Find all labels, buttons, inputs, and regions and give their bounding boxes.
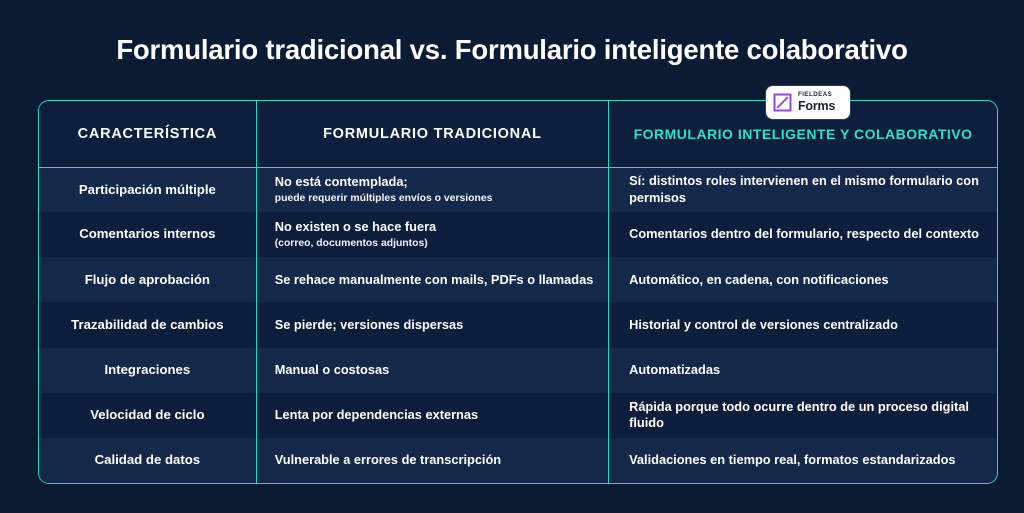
cell-main-text: Validaciones en tiempo real, formatos es…	[629, 452, 983, 469]
row-feature-label: Velocidad de ciclo	[39, 393, 256, 438]
table-row: Comentarios internos No existen o se hac…	[39, 212, 997, 257]
table-row: Flujo de aprobación Se rehace manualment…	[39, 257, 997, 302]
row-smart-cell: Rápida porque todo ocurre dentro de un p…	[609, 393, 997, 438]
cell-main-text: Sí: distintos roles intervienen en el mi…	[629, 173, 983, 206]
row-feature-label: Calidad de datos	[39, 438, 256, 483]
logo-top-word: FIELDEAS	[798, 92, 835, 98]
row-smart-cell: Comentarios dentro del formulario, respe…	[609, 212, 997, 257]
header-row: CARACTERÍSTICA FORMULARIO TRADICIONAL FO…	[39, 101, 997, 167]
cell-main-text: Manual o costosas	[275, 362, 594, 379]
cell-main-text: No está contemplada;	[275, 174, 594, 191]
comparison-table: CARACTERÍSTICA FORMULARIO TRADICIONAL FO…	[39, 101, 997, 483]
row-traditional-cell: Se rehace manualmente con mails, PDFs o …	[256, 257, 608, 302]
table-body: Participación múltiple No está contempla…	[39, 167, 997, 483]
cell-main-text: Automático, en cadena, con notificacione…	[629, 272, 983, 289]
row-smart-cell: Validaciones en tiempo real, formatos es…	[609, 438, 997, 483]
square-diagonal-icon	[773, 93, 792, 112]
table-row: Calidad de datos Vulnerable a errores de…	[39, 438, 997, 483]
cell-main-text: Se pierde; versiones dispersas	[275, 317, 594, 334]
cell-sub-text: puede requerir múltiples envíos o versio…	[275, 192, 594, 206]
table-row: Integraciones Manual o costosas Automati…	[39, 348, 997, 393]
row-feature-label: Comentarios internos	[39, 212, 256, 257]
page-title: Formulario tradicional vs. Formulario in…	[0, 34, 1024, 66]
row-smart-cell: Sí: distintos roles intervienen en el mi…	[609, 167, 997, 212]
row-feature-label: Flujo de aprobación	[39, 257, 256, 302]
row-feature-label: Participación múltiple	[39, 167, 256, 212]
cell-main-text: Se rehace manualmente con mails, PDFs o …	[275, 272, 594, 289]
row-traditional-cell: No existen o se hace fuera (correo, docu…	[256, 212, 608, 257]
table-row: Participación múltiple No está contempla…	[39, 167, 997, 212]
row-traditional-cell: Se pierde; versiones dispersas	[256, 302, 608, 347]
cell-main-text: Historial y control de versiones central…	[629, 317, 983, 334]
cell-main-text: No existen o se hace fuera	[275, 219, 594, 236]
cell-sub-text: (correo, documentos adjuntos)	[275, 237, 594, 251]
cell-main-text: Comentarios dentro del formulario, respe…	[629, 226, 983, 243]
cell-main-text: Lenta por dependencias externas	[275, 407, 594, 424]
logo-wordmark: FIELDEAS Forms	[798, 92, 835, 112]
row-feature-label: Trazabilidad de cambios	[39, 302, 256, 347]
row-traditional-cell: Vulnerable a errores de transcripción	[256, 438, 608, 483]
fieldeas-forms-logo: FIELDEAS Forms	[766, 86, 850, 119]
row-feature-label: Integraciones	[39, 348, 256, 393]
row-smart-cell: Automático, en cadena, con notificacione…	[609, 257, 997, 302]
row-smart-cell: Historial y control de versiones central…	[609, 302, 997, 347]
table-row: Velocidad de ciclo Lenta por dependencia…	[39, 393, 997, 438]
row-traditional-cell: Lenta por dependencias externas	[256, 393, 608, 438]
row-smart-cell: Automatizadas	[609, 348, 997, 393]
table-header: CARACTERÍSTICA FORMULARIO TRADICIONAL FO…	[39, 101, 997, 167]
comparison-table-container: CARACTERÍSTICA FORMULARIO TRADICIONAL FO…	[38, 100, 998, 484]
row-traditional-cell: No está contemplada; puede requerir múlt…	[256, 167, 608, 212]
row-traditional-cell: Manual o costosas	[256, 348, 608, 393]
column-header-formulario-tradicional: FORMULARIO TRADICIONAL	[256, 101, 608, 167]
column-header-caracteristica: CARACTERÍSTICA	[39, 101, 256, 167]
logo-bottom-word: Forms	[798, 100, 835, 113]
cell-main-text: Automatizadas	[629, 362, 983, 379]
table-row: Trazabilidad de cambios Se pierde; versi…	[39, 302, 997, 347]
cell-main-text: Vulnerable a errores de transcripción	[275, 452, 594, 469]
cell-main-text: Rápida porque todo ocurre dentro de un p…	[629, 399, 983, 432]
